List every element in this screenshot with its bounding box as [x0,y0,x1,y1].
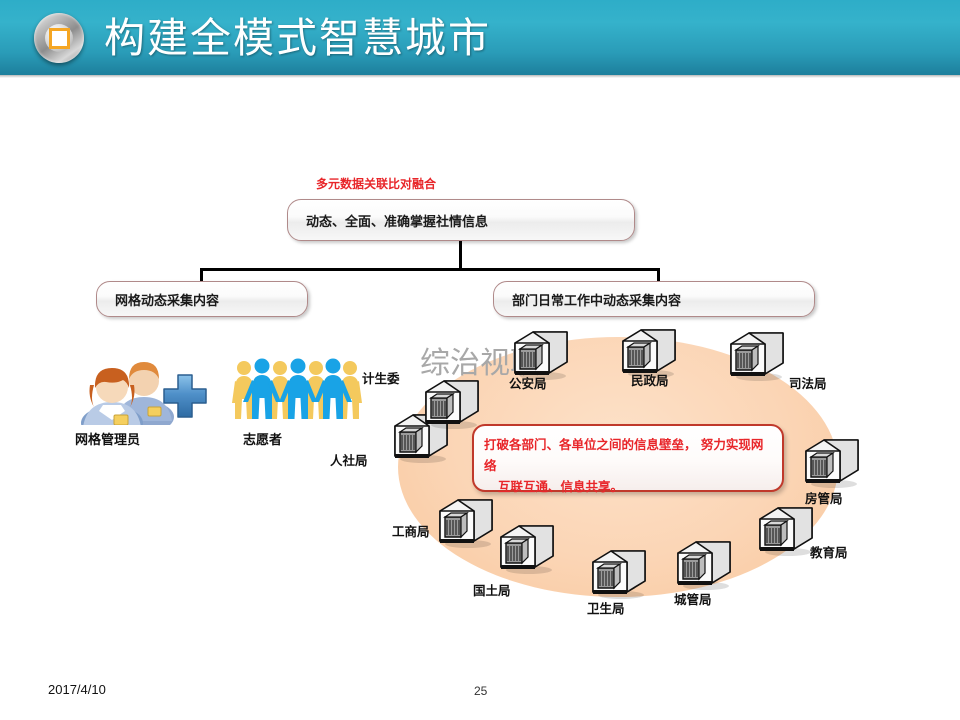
server-icon-7 [757,505,815,557]
server-icon-jishengwei [423,378,481,430]
square-badge-icon [34,13,84,63]
server-icon-6 [437,497,495,549]
volunteers-icon [232,357,362,425]
orgchart-main-box: 动态、全面、准确掌握社情信息 [287,199,635,241]
server-icon-8 [498,523,556,575]
orgchart-left-box-label: 网格动态采集内容 [97,290,219,309]
orgchart-red-label: 多元数据关联比对融合 [316,175,436,192]
orgchart-right-box: 部门日常工作中动态采集内容 [493,281,815,317]
connector-bar [200,268,660,271]
server-icon-9 [590,548,648,600]
department-label-8: 国土局 [473,580,511,599]
footer-date: 2017/4/10 [48,682,106,697]
department-label-6: 工商局 [392,521,430,540]
slide-header: 构建全模式智慧城市 [0,0,960,75]
orgchart-right-box-label: 部门日常工作中动态采集内容 [494,290,681,309]
department-label-1: 公安局 [509,373,547,392]
orgchart-left-box: 网格动态采集内容 [96,281,308,317]
footer-page-number: 25 [474,684,487,698]
server-icon-3 [728,330,786,382]
department-label-10: 城管局 [674,589,712,608]
department-label-2: 民政局 [631,370,669,389]
callout-line-2: 互联互通、信息共享。 [484,476,772,497]
caption-volunteers: 志愿者 [243,429,282,448]
department-label-7: 教育局 [810,542,848,561]
department-label-0: 计生委 [362,368,400,387]
callout-box: 打破各部门、各单位之间的信息壁垒， 努力实现网络 互联互通、信息共享。 [472,424,784,492]
department-label-5: 房管局 [805,488,843,507]
logo-orange-square [49,28,70,49]
server-icon-5 [803,437,861,489]
connector-stem [459,241,462,271]
department-label-4: 人社局 [330,450,368,469]
department-label-9: 卫生局 [587,598,625,617]
plus-icon [161,372,209,420]
caption-grid-managers: 网格管理员 [75,429,140,448]
department-label-3: 司法局 [789,373,827,392]
callout-line-1: 打破各部门、各单位之间的信息壁垒， 努力实现网络 [484,434,772,476]
server-icon-10 [675,539,733,591]
logo-inner-disc [45,24,73,52]
page-title: 构建全模式智慧城市 [104,6,491,70]
orgchart-main-box-label: 动态、全面、准确掌握社情信息 [288,211,488,230]
